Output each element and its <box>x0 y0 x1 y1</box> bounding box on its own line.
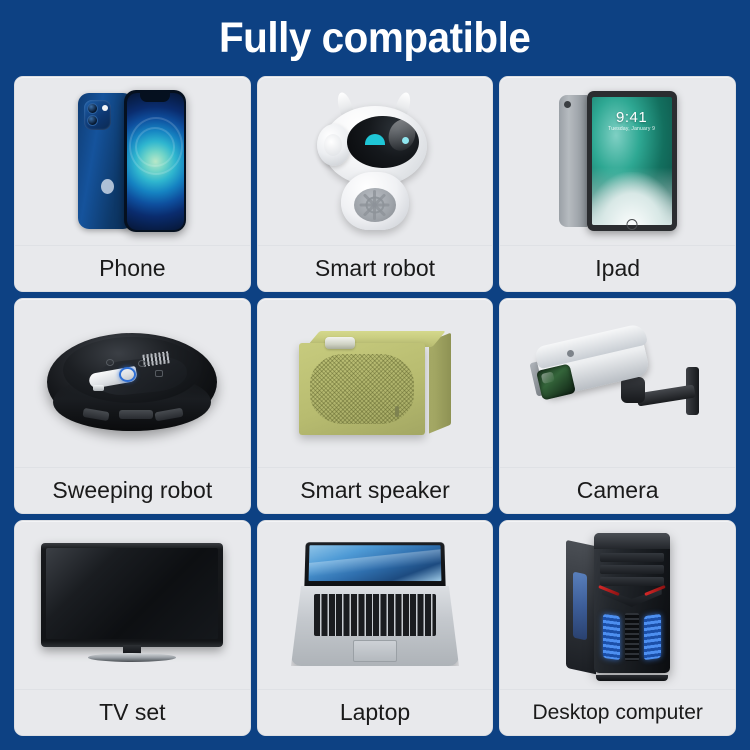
ipad-back-panel <box>559 95 587 227</box>
smart-speaker-illustration <box>299 329 451 437</box>
lockscreen-date: Tuesday, January 9 <box>592 126 672 132</box>
lockscreen-clock: 9:41 <box>592 109 672 126</box>
device-card-tv-set[interactable]: TV set <box>14 520 251 736</box>
pc-tower-illustration <box>566 533 670 677</box>
device-grid: Phone <box>14 76 736 736</box>
device-label-desktop-computer: Desktop computer <box>500 689 735 735</box>
ipad-illustration: 9:41 Tuesday, January 9 <box>559 91 677 231</box>
device-label-smart-speaker: Smart speaker <box>258 467 493 513</box>
iphone-front-panel <box>124 90 186 232</box>
speaker-right-side <box>429 333 451 434</box>
pc-front-panel <box>594 533 670 673</box>
camera-lens-icon <box>87 115 98 126</box>
pc-top-panel <box>594 533 670 549</box>
vacuum-vent <box>119 410 153 419</box>
flash-icon <box>102 105 108 111</box>
laptop-illustration <box>291 542 459 668</box>
robot-smile-icon <box>365 134 385 145</box>
speaker-charging-port-icon <box>395 406 399 417</box>
camera-lens-icon <box>536 364 576 401</box>
vacuum-chip-accent <box>93 385 104 391</box>
cctv-camera-illustration <box>533 323 703 443</box>
notch-icon <box>140 93 170 102</box>
pc-center-vent <box>625 613 639 661</box>
robot-face-screen <box>347 116 419 168</box>
robot-body <box>341 172 409 230</box>
pc-base-foot <box>596 675 668 681</box>
iphone-illustration <box>78 90 186 232</box>
device-card-laptop[interactable]: Laptop <box>257 520 494 736</box>
device-image-sweeping-robot <box>15 299 250 467</box>
tv-bezel <box>41 543 223 647</box>
camera-screw-icon <box>567 350 574 357</box>
vacuum-vent <box>155 408 184 422</box>
page-title: Fully compatible <box>219 17 530 60</box>
camera-pivot-joint <box>621 377 645 403</box>
television-illustration <box>41 543 223 667</box>
compatibility-banner: Fully compatible <box>0 0 750 750</box>
vacuum-top-cover <box>63 337 201 403</box>
robot-side-speaker <box>317 124 351 166</box>
device-image-ipad: 9:41 Tuesday, January 9 <box>500 77 735 245</box>
banner-header: Fully compatible <box>0 0 750 76</box>
device-card-phone[interactable]: Phone <box>14 76 251 292</box>
apple-logo-icon <box>101 179 114 194</box>
tv-screen <box>46 548 218 639</box>
speaker-grille-icon <box>354 188 396 222</box>
device-image-phone <box>15 77 250 245</box>
device-image-smart-speaker <box>258 299 493 467</box>
laptop-lid <box>304 542 445 586</box>
device-image-tv-set <box>15 521 250 689</box>
device-label-camera: Camera <box>500 467 735 513</box>
speaker-knob-icon[interactable] <box>325 337 355 349</box>
laptop-screen <box>309 545 442 581</box>
smart-robot-illustration <box>311 90 439 232</box>
pc-side-window <box>573 572 587 641</box>
device-label-sweeping-robot: Sweeping robot <box>15 467 250 513</box>
device-card-sweeping-robot[interactable]: Sweeping robot <box>14 298 251 514</box>
device-card-smart-speaker[interactable]: Smart speaker <box>257 298 494 514</box>
device-label-tv-set: TV set <box>15 689 250 735</box>
device-label-smart-robot: Smart robot <box>258 245 493 291</box>
pc-drive-bay <box>600 565 664 574</box>
device-card-desktop-computer[interactable]: Desktop computer <box>499 520 736 736</box>
device-card-ipad[interactable]: 9:41 Tuesday, January 9 Ipad <box>499 76 736 292</box>
ipad-wallpaper: 9:41 Tuesday, January 9 <box>592 97 672 225</box>
speaker-front-face <box>299 343 425 435</box>
device-label-ipad: Ipad <box>500 245 735 291</box>
device-image-laptop <box>258 521 493 689</box>
pc-blue-led-vent <box>644 614 661 660</box>
home-button-icon <box>626 219 637 230</box>
tv-stand-base <box>88 653 176 662</box>
device-label-laptop: Laptop <box>258 689 493 735</box>
pc-drive-bay <box>600 553 664 562</box>
device-image-desktop-computer <box>500 521 735 689</box>
wave-foam <box>592 172 672 225</box>
device-card-camera[interactable]: Camera <box>499 298 736 514</box>
camera-module-icon <box>84 100 111 130</box>
device-label-phone: Phone <box>15 245 250 291</box>
device-image-smart-robot <box>258 77 493 245</box>
laptop-trackpad[interactable] <box>353 640 397 662</box>
vacuum-button-icon[interactable] <box>155 370 163 377</box>
laptop-keyboard[interactable] <box>314 594 436 636</box>
camera-lens-icon <box>87 103 98 114</box>
device-card-smart-robot[interactable]: Smart robot <box>257 76 494 292</box>
robot-eye-icon <box>402 137 409 144</box>
vacuum-vent <box>83 408 110 421</box>
iphone-wallpaper <box>127 93 184 230</box>
wallpaper-ring <box>129 117 183 175</box>
pc-blue-led-vent <box>603 614 620 660</box>
ipad-front-panel: 9:41 Tuesday, January 9 <box>587 91 677 231</box>
robot-vacuum-illustration <box>47 327 217 439</box>
device-image-camera <box>500 299 735 467</box>
pc-drive-bay <box>600 577 664 586</box>
